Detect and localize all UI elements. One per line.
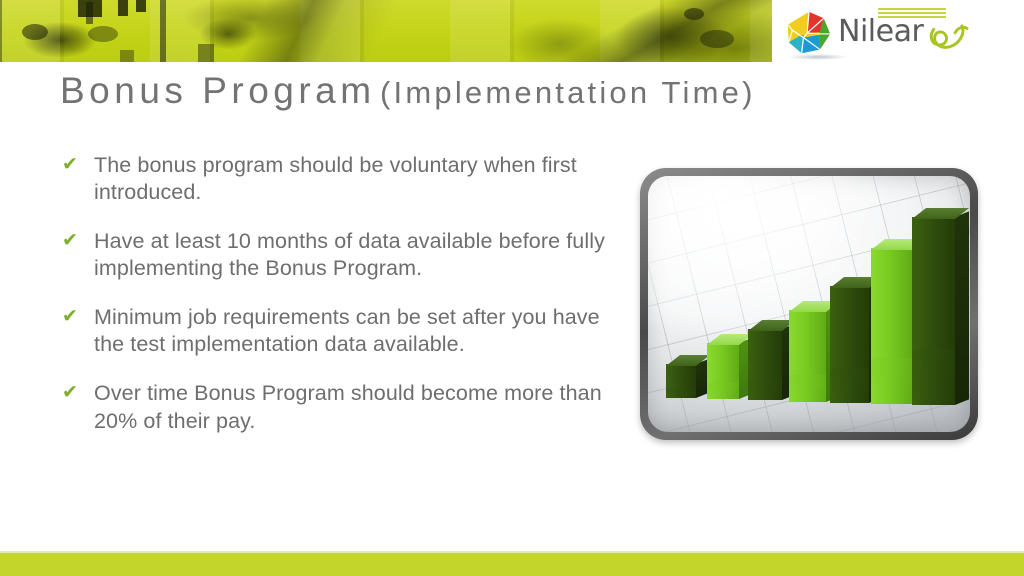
list-item-label: Minimum job requirements can be set afte…	[94, 304, 607, 358]
page-title-sub: (Implementation Time)	[380, 75, 756, 110]
check-icon: ✔	[62, 152, 94, 174]
check-icon: ✔	[62, 304, 94, 326]
band-shape-6	[198, 44, 214, 62]
band-blob-3	[684, 8, 704, 20]
check-icon: ✔	[62, 228, 94, 250]
band-shape-4	[86, 2, 93, 24]
list-item: ✔ Over time Bonus Program should become …	[62, 380, 607, 434]
chart-bar	[666, 364, 696, 398]
list-item: ✔ Have at least 10 months of data availa…	[62, 228, 607, 282]
chart-bar-reflection	[789, 375, 826, 403]
chart-bar-side	[955, 212, 969, 406]
chart-bar-reflection	[830, 369, 869, 404]
nilear-polygon-logo-icon	[786, 10, 832, 56]
slide-root: Nilear Bonus Program (Implementation Tim…	[0, 0, 1024, 576]
band-streak-left	[190, 0, 420, 62]
chart-bar-reflection	[912, 350, 955, 406]
brand-logo[interactable]: Nilear	[786, 4, 986, 60]
chart-bar	[748, 329, 782, 400]
chart-bars	[648, 176, 970, 432]
page-title-main: Bonus Program	[60, 70, 376, 111]
list-item: ✔ Minimum job requirements can be set af…	[62, 304, 607, 358]
chart-bar	[912, 217, 955, 405]
page-title: Bonus Program (Implementation Time)	[60, 70, 980, 112]
chart-bar-reflection	[748, 380, 782, 401]
band-shape-2	[118, 0, 128, 16]
band-shape-5	[160, 0, 166, 62]
footer-bar	[0, 553, 1024, 576]
band-shape-3	[136, 0, 146, 12]
band-shape-7	[120, 50, 134, 62]
chart-bar	[830, 286, 869, 403]
band-blob-2	[88, 26, 118, 42]
header-photo-band	[0, 0, 772, 62]
list-item-label: Have at least 10 months of data availabl…	[94, 228, 607, 282]
list-item: ✔ The bonus program should be voluntary …	[62, 152, 607, 206]
check-icon: ✔	[62, 380, 94, 402]
chart-bar-reflection	[666, 389, 696, 399]
chart-bar	[789, 310, 826, 402]
chart-bar	[871, 248, 912, 404]
chart-bar	[707, 343, 739, 399]
chart-bar-reflection	[707, 383, 739, 400]
band-blob-1	[22, 24, 48, 40]
chart-canvas	[648, 176, 970, 432]
logo-wordmark: Nilear	[838, 14, 923, 49]
band-streak-right	[560, 0, 772, 62]
bullet-list: ✔ The bonus program should be voluntary …	[62, 152, 607, 435]
band-blob-4	[700, 30, 734, 48]
bar-chart-image	[640, 168, 978, 440]
list-item-label: The bonus program should be voluntary wh…	[94, 152, 607, 206]
logo-swirl-icon	[928, 20, 972, 54]
list-item-label: Over time Bonus Program should become mo…	[94, 380, 607, 434]
chart-bar-reflection	[871, 358, 912, 405]
